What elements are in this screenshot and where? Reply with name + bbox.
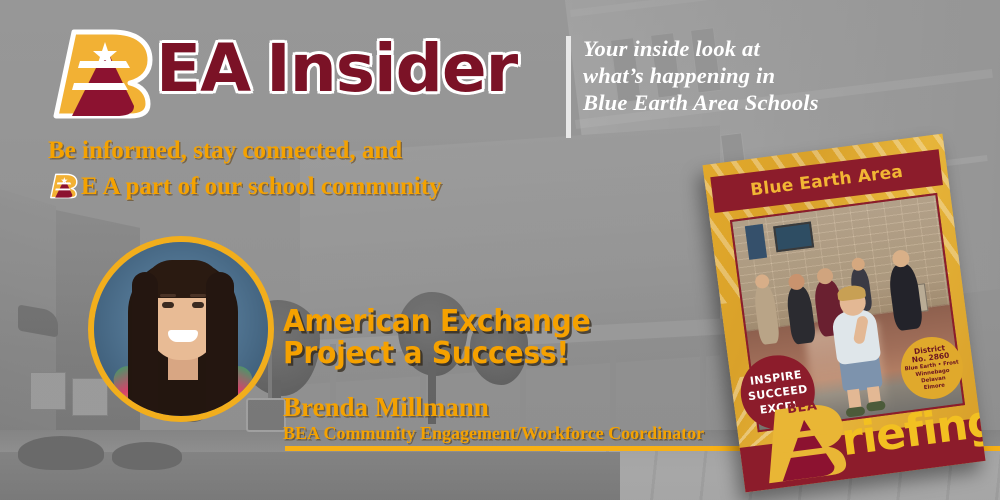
briefing-logo-word: riefing xyxy=(839,399,986,463)
background-light-fixture xyxy=(18,304,58,337)
masthead-divider xyxy=(566,36,571,138)
portrait-eye-left xyxy=(162,302,174,308)
background-facade-stripe xyxy=(570,0,998,17)
background-window xyxy=(640,142,669,204)
cover-photo-wall-screen xyxy=(773,222,814,253)
avatar xyxy=(88,236,274,422)
background-sign-post xyxy=(268,352,272,432)
background-lawn xyxy=(0,452,620,500)
page-title: American Exchange Project a Success! xyxy=(283,306,687,370)
bea-b-logo-small xyxy=(48,171,79,201)
masthead-subline: Be informed, stay connected, and E A par… xyxy=(48,133,608,204)
tagline-line-2: what’s happening in xyxy=(583,63,883,90)
bea-b-logo-small-svg xyxy=(48,171,79,201)
portrait-brow-left xyxy=(160,294,176,297)
subline-row-2-text: E A part of our school community xyxy=(81,169,442,205)
portrait-brow-right xyxy=(190,294,206,297)
subline-row-2: E A part of our school community xyxy=(48,169,608,205)
subline-row-1: Be informed, stay connected, and xyxy=(48,133,608,169)
bea-b-logo xyxy=(46,28,158,120)
person-name: Brenda Millmann xyxy=(283,394,489,421)
masthead-tagline: Your inside look at what’s happening in … xyxy=(583,36,883,116)
masthead-title-ea: EA xyxy=(156,30,250,107)
tagline-line-1: Your inside look at xyxy=(583,36,883,63)
portrait-hair-strand-right xyxy=(206,272,234,422)
background-bush xyxy=(18,436,104,470)
masthead-title-insider: Insider xyxy=(266,30,517,107)
portrait-smile xyxy=(168,330,198,342)
bea-insider-banner: EAInsider Your inside look at what’s hap… xyxy=(0,0,1000,500)
person-role: BEA Community Engagement/Workforce Coord… xyxy=(283,424,704,442)
masthead: EAInsider xyxy=(46,28,517,120)
bea-b-logo-svg xyxy=(46,28,158,120)
magazine-cover-surface: Blue Earth Area Schools xyxy=(702,134,985,493)
background-window xyxy=(30,372,66,410)
portrait-eye-right xyxy=(192,302,204,308)
background-column xyxy=(700,344,706,434)
portrait-hair-strand-left xyxy=(132,272,158,422)
background-left-wall-end xyxy=(0,186,56,456)
magazine-cover[interactable]: Blue Earth Area Schools xyxy=(702,134,985,493)
tagline-line-3: Blue Earth Area Schools xyxy=(583,90,883,117)
background-tree-trunk xyxy=(272,380,281,436)
background-bush xyxy=(112,442,182,470)
